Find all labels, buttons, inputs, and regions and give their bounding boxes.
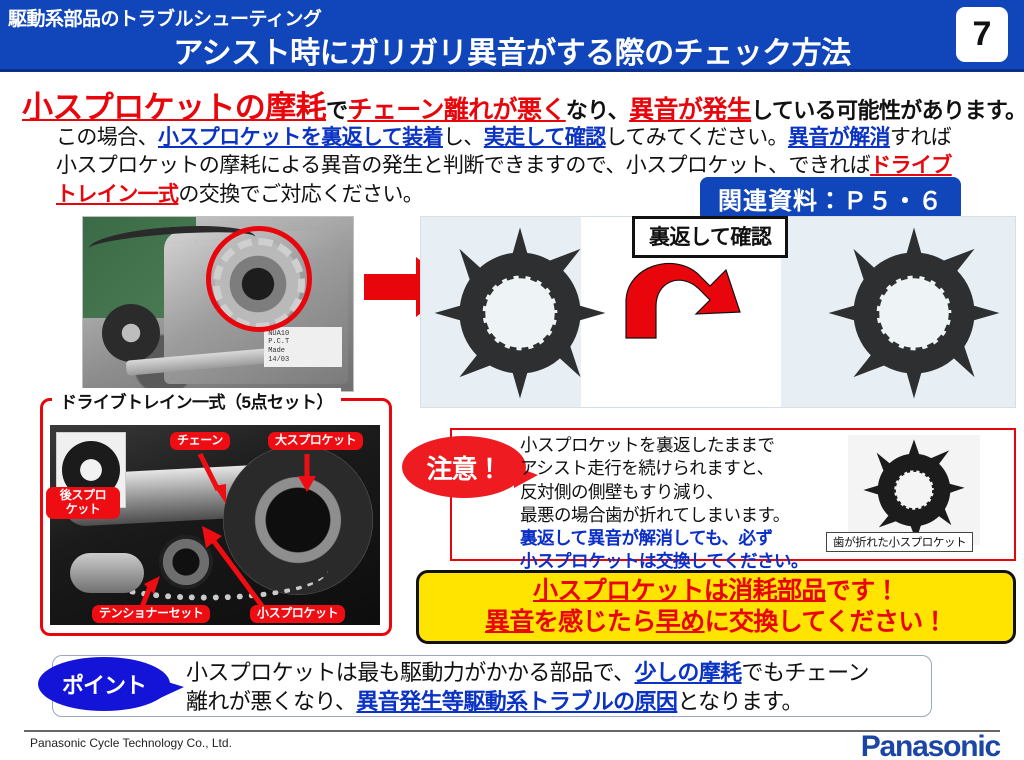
page-number-badge: 7	[956, 7, 1008, 62]
sprocket-front-photo	[431, 224, 609, 402]
slide-header: 駆動系部品のトラブルシューティング アシスト時にガリガリ異音がする際のチェック方…	[0, 0, 1024, 72]
point-l1c: でもチェーン	[742, 660, 869, 685]
point-l1a: 小スプロケットは最も駆動力がかかる部品で、	[186, 660, 635, 685]
para-l2a: 小スプロケットの摩耗による異音の発生と判断できますので、小スプロケット、できれば	[56, 154, 870, 177]
highlight-yellow-box: 小スプロケットは消耗部品です！ 異音を感じたら早めに交換してください！	[416, 570, 1016, 644]
yellow-line-2-b: を感じたら	[534, 608, 656, 636]
point-line-2: 離れが悪くなり、異音発生等駆動系トラブルの原因となります。	[186, 687, 946, 716]
caution-line-3: 反対側の側壁もすり減り、	[520, 481, 880, 504]
para-link-flip-install: 小スプロケットを裏返して装着	[158, 126, 443, 149]
caution-text-block: 小スプロケットを裏返したままで アシスト走行を続けられますと、 反対側の側壁もす…	[520, 434, 880, 574]
dt-small-sprocket-pointer-arrow-icon	[192, 520, 268, 610]
slide-root: 駆動系部品のトラブルシューティング アシスト時にガリガリ異音がする際のチェック方…	[0, 0, 1024, 760]
lead-text-2: で	[326, 98, 347, 123]
lead-keyword-noise: 異音が発生	[629, 96, 751, 124]
yellow-line-1-rest: です！	[826, 577, 899, 605]
para-l3b: の交換でご対応ください。	[178, 183, 423, 206]
yellow-line-2-c: 早め	[656, 608, 705, 636]
panasonic-logo: Panasonic	[861, 730, 1000, 760]
para-l1g: すれば	[890, 126, 951, 149]
para-l1a: この場合、	[56, 126, 158, 149]
point-text-block: 小スプロケットは最も駆動力がかかる部品で、少しの摩耗でもチェーン 離れが悪くなり…	[186, 658, 946, 716]
drive-train-title: ドライブトレイン一式（5点セット）	[52, 388, 341, 413]
red-highlight-circle-icon	[206, 226, 312, 332]
yellow-line-2-a: 異音	[485, 608, 534, 636]
para-l1c: し、	[443, 126, 484, 149]
caution-line-2: アシスト走行を続けられますと、	[520, 457, 880, 480]
tag-rear-sprocket: 後スプロ ケット	[46, 487, 120, 519]
footer-company-name: Panasonic Cycle Technology Co., Ltd.	[30, 736, 232, 750]
para-link-test-ride: 実走して確認	[484, 126, 606, 149]
point-badge: ポイント	[38, 657, 170, 711]
yellow-line-2: 異音を感じたら早めに交換してください！	[485, 607, 947, 638]
tag-big-sprocket: 大スプロケット	[268, 432, 363, 450]
lead-text-6: している可能性があります。	[751, 98, 1024, 123]
point-link-trouble-cause: 異音発生等駆動系トラブルの原因	[356, 689, 677, 714]
tag-tensioner-set: テンショナーセット	[92, 605, 210, 623]
caution-badge: 注意！	[402, 436, 526, 498]
point-badge-label: ポイント	[38, 657, 170, 711]
yellow-line-1-underlined: 小スプロケットは消耗部品	[533, 577, 826, 605]
header-subtitle: 駆動系部品のトラブルシューティング	[8, 4, 321, 31]
point-link-slight-wear: 少しの摩耗	[635, 660, 742, 685]
lead-keyword-wear: 小スプロケットの摩耗	[22, 90, 326, 125]
dt-chain-pointer-arrow-icon	[196, 452, 242, 510]
point-l2c: となります。	[677, 689, 803, 714]
broken-sprocket-caption: 歯が折れた小スプロケット	[826, 532, 973, 552]
yellow-line-1: 小スプロケットは消耗部品です！	[533, 576, 899, 607]
photo-tensioner-pulley	[102, 304, 160, 362]
para-link-drivetrain-2: トレイン一式	[56, 183, 178, 206]
photo-serial-label: NUA10P.C.TMade14/03	[264, 327, 342, 367]
caution-line-4: 最悪の場合歯が折れてしまいます。	[520, 504, 880, 527]
point-line-1: 小スプロケットは最も駆動力がかかる部品で、少しの摩耗でもチェーン	[186, 658, 946, 687]
para-link-noise-resolved: 異音が解消	[788, 126, 890, 149]
dt-big-sprocket-pointer-arrow-icon	[292, 452, 322, 494]
yellow-line-2-d: に交換してください！	[705, 608, 948, 636]
broken-sprocket-shape-icon	[848, 435, 980, 545]
footer-divider	[24, 730, 1000, 732]
para-link-drivetrain-1: ドライブ	[870, 154, 952, 177]
broken-sprocket-photo	[848, 435, 980, 545]
tag-chain: チェーン	[170, 432, 230, 450]
lead-sentence: 小スプロケットの摩耗でチェーン離れが悪くなり、異音が発生している可能性があります…	[22, 82, 1012, 127]
red-curved-flip-arrow-icon	[618, 250, 748, 342]
sprocket-flipped-photo	[825, 224, 1003, 402]
flip-instruction-label: 裏返して確認	[632, 216, 788, 258]
lead-text-4: なり、	[566, 98, 629, 123]
lead-keyword-chain: チェーン離れが悪く	[347, 96, 565, 124]
caution-badge-label: 注意！	[402, 436, 526, 498]
para-l1e: してみてください。	[606, 126, 788, 149]
point-l2a: 離れが悪くなり、	[186, 689, 356, 714]
header-title: アシスト時にガリガリ異音がする際のチェック方法	[0, 28, 1024, 72]
caution-line-1: 小スプロケットを裏返したままで	[520, 434, 880, 457]
tag-small-sprocket: 小スプロケット	[250, 605, 345, 623]
